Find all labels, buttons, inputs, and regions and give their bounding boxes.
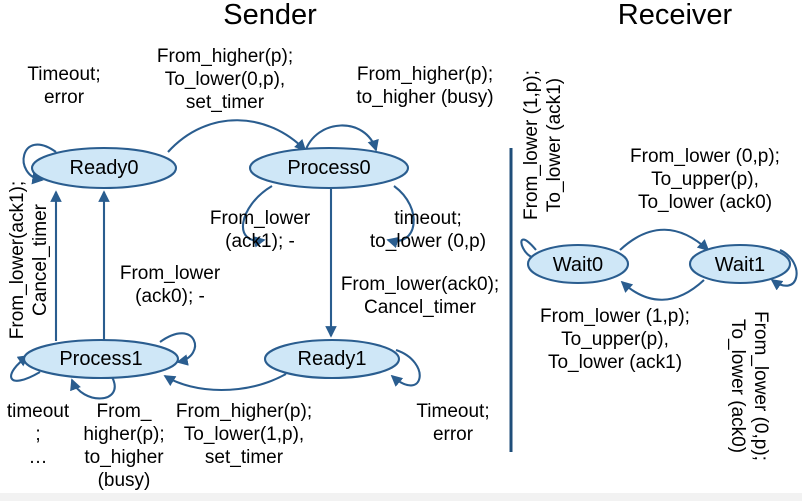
label-wait1-selfloop-vertical: From_lower (0,p); To_lower (ack0) — [726, 296, 772, 476]
edge-process1-selfloop-bottom — [72, 377, 115, 398]
edge-ready0-to-process0 — [168, 120, 305, 152]
edge-wait1-to-wait0 — [622, 280, 704, 300]
label-process0-selfloop-left: From_lower (ack1); - — [190, 207, 330, 253]
label-process1-selfloop-left: timeout ; … — [0, 400, 76, 469]
edge-wait0-to-wait1 — [620, 230, 708, 250]
label-process1-to-ready0: From_lower (ack0); - — [100, 262, 240, 308]
title-sender: Sender — [170, 0, 370, 32]
label-wait1-to-wait0: From_lower (1,p); To_upper(p), To_lower … — [520, 305, 710, 374]
state-node-wait1 — [690, 245, 790, 283]
title-receiver: Receiver — [580, 0, 770, 32]
bottom-band — [0, 493, 802, 501]
label-ready0-selfloop: Timeout; error — [2, 63, 126, 109]
label-wait0-to-wait1: From_lower (0,p); To_upper(p), To_lower … — [610, 145, 800, 214]
label-wait0-selfloop-vertical: From_lower (1,p); To_lower (ack1) — [520, 50, 566, 240]
label-process0-selfloop-top: From_higher(p); to_higher (busy) — [325, 63, 525, 109]
edge-ready1-to-process1 — [165, 374, 286, 390]
state-node-process1 — [24, 340, 178, 378]
label-ready1-selfloop: Timeout; error — [398, 400, 508, 446]
state-node-ready1 — [265, 340, 399, 378]
diagram-canvas: Sender Receiver Ready0 Process0 Process1… — [0, 0, 802, 501]
label-process1-to-ready0-vertical: From_lower(ack1); Cancel_timer — [6, 180, 52, 340]
state-node-wait0 — [528, 245, 628, 283]
label-process0-selfloop-right: timeout; to_lower (0,p) — [358, 207, 498, 253]
label-process0-to-ready1: From_lower(ack0); Cancel_timer — [330, 273, 510, 319]
label-ready0-to-process0: From_higher(p); To_lower(0,p), set_timer — [125, 45, 325, 114]
state-node-ready0 — [32, 148, 176, 188]
state-node-process0 — [250, 148, 408, 188]
label-ready1-to-process1: From_higher(p); To_lower(1,p), set_timer — [150, 400, 338, 469]
